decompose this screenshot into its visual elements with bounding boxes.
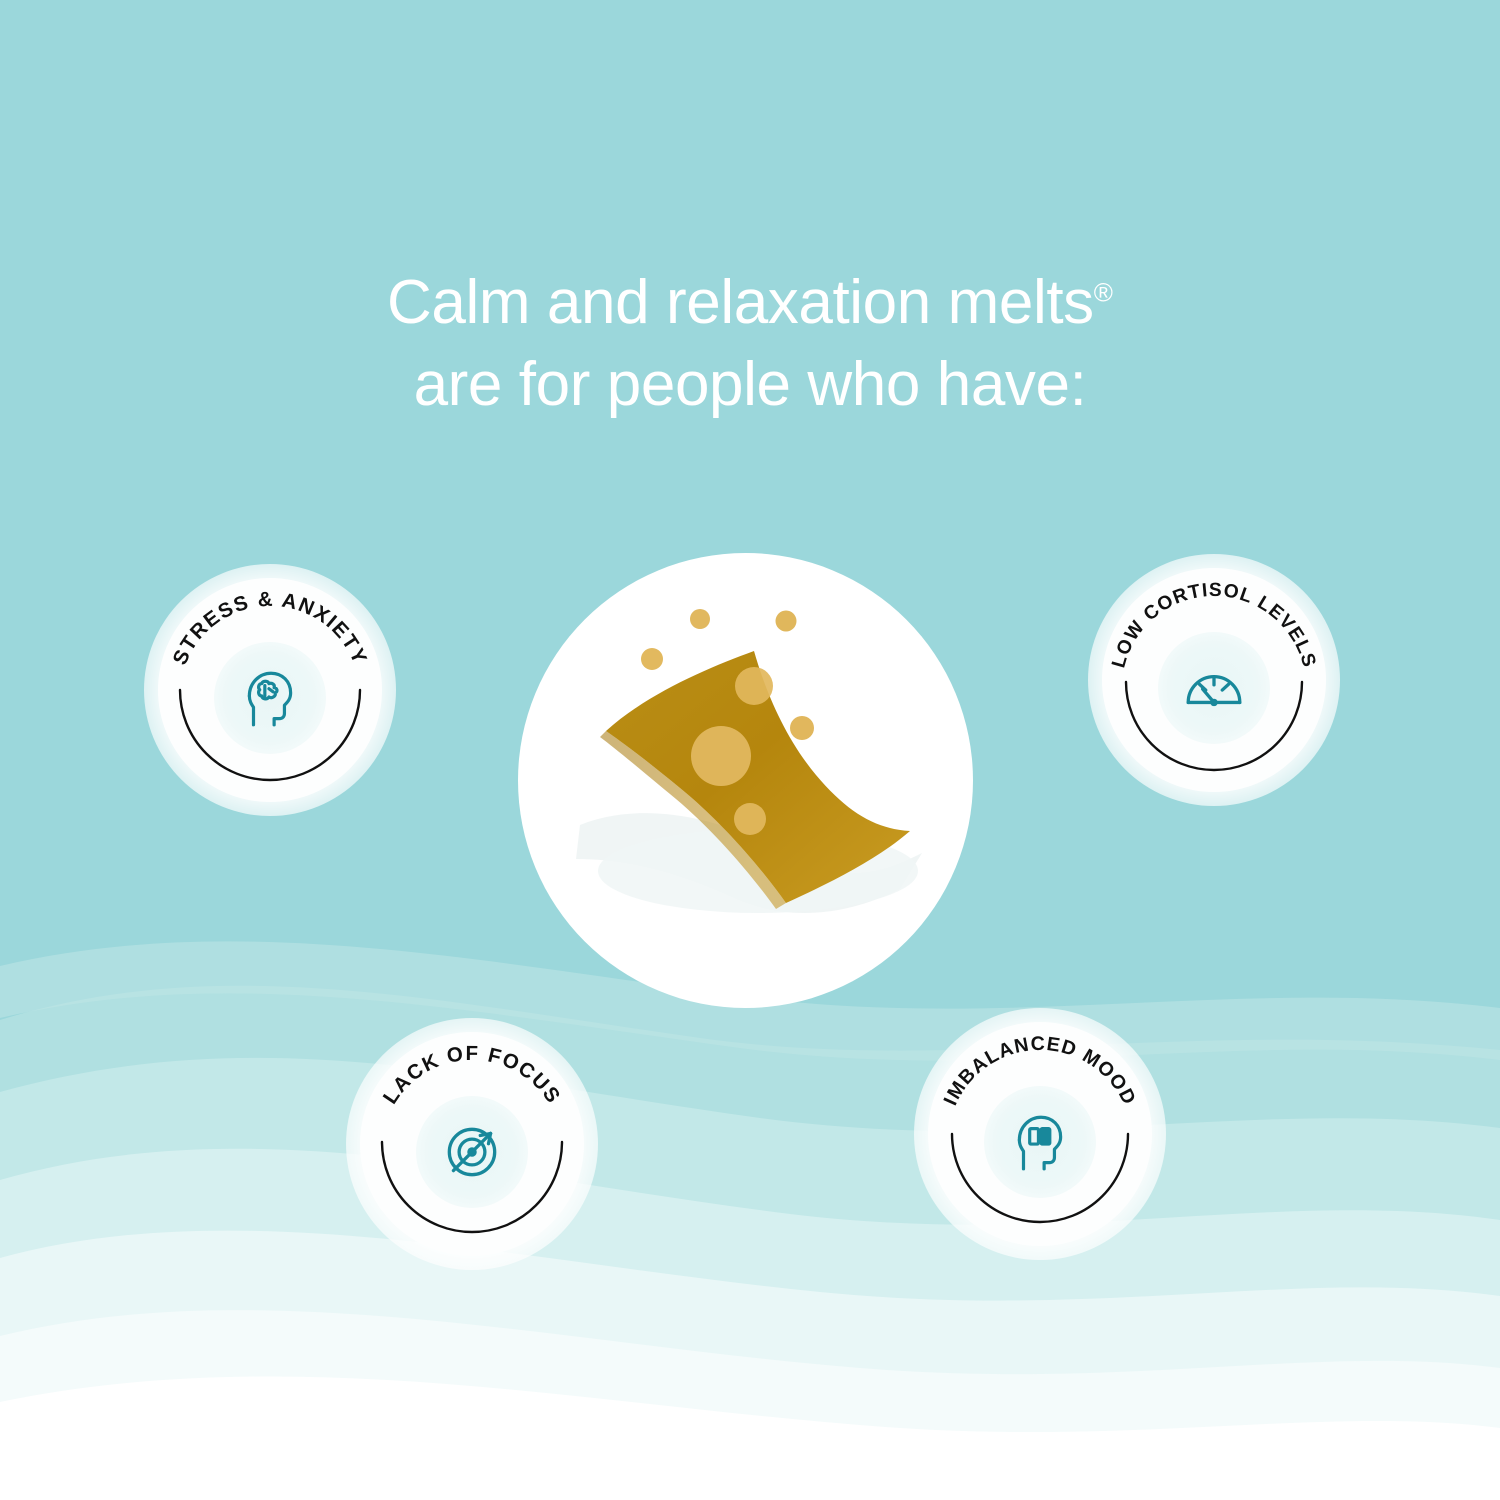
headline-line-1-text: Calm and relaxation melts	[387, 268, 1094, 337]
badge-icon-halo	[1158, 632, 1270, 744]
melt-strip-illustration	[518, 553, 973, 1008]
melt-dot	[735, 667, 773, 705]
badge-icon-halo	[416, 1096, 528, 1208]
melt-dot	[641, 648, 663, 670]
badge-low-cortisol-levels[interactable]: LOW CORTISOL LEVELS	[1102, 568, 1326, 792]
target-crossed-icon	[439, 1119, 505, 1185]
melt-dot	[691, 726, 751, 786]
melt-dot	[790, 716, 814, 740]
badge-icon-halo	[984, 1086, 1096, 1198]
headline-line-2: are for people who have:	[0, 344, 1500, 426]
melt-dot	[734, 803, 766, 835]
head-with-brain-icon	[237, 665, 303, 731]
badge-imbalanced-mood[interactable]: IMBALANCED MOOD	[928, 1022, 1152, 1246]
registered-trademark-icon: ®	[1094, 277, 1113, 307]
gauge-icon	[1181, 655, 1247, 721]
page-title: Calm and relaxation melts® are for peopl…	[0, 262, 1500, 427]
melt-dot	[690, 609, 710, 629]
headline-line-1: Calm and relaxation melts®	[0, 262, 1500, 344]
infographic-canvas: Calm and relaxation melts® are for peopl…	[0, 0, 1500, 1500]
product-medallion	[518, 553, 973, 1008]
head-with-mood-bars-icon	[1007, 1109, 1073, 1175]
badge-icon-halo	[214, 642, 326, 754]
badge-stress-and-anxiety[interactable]: STRESS & ANXIETY	[158, 578, 382, 802]
badge-lack-of-focus[interactable]: LACK OF FOCUS	[360, 1032, 584, 1256]
melt-dot	[776, 611, 797, 632]
